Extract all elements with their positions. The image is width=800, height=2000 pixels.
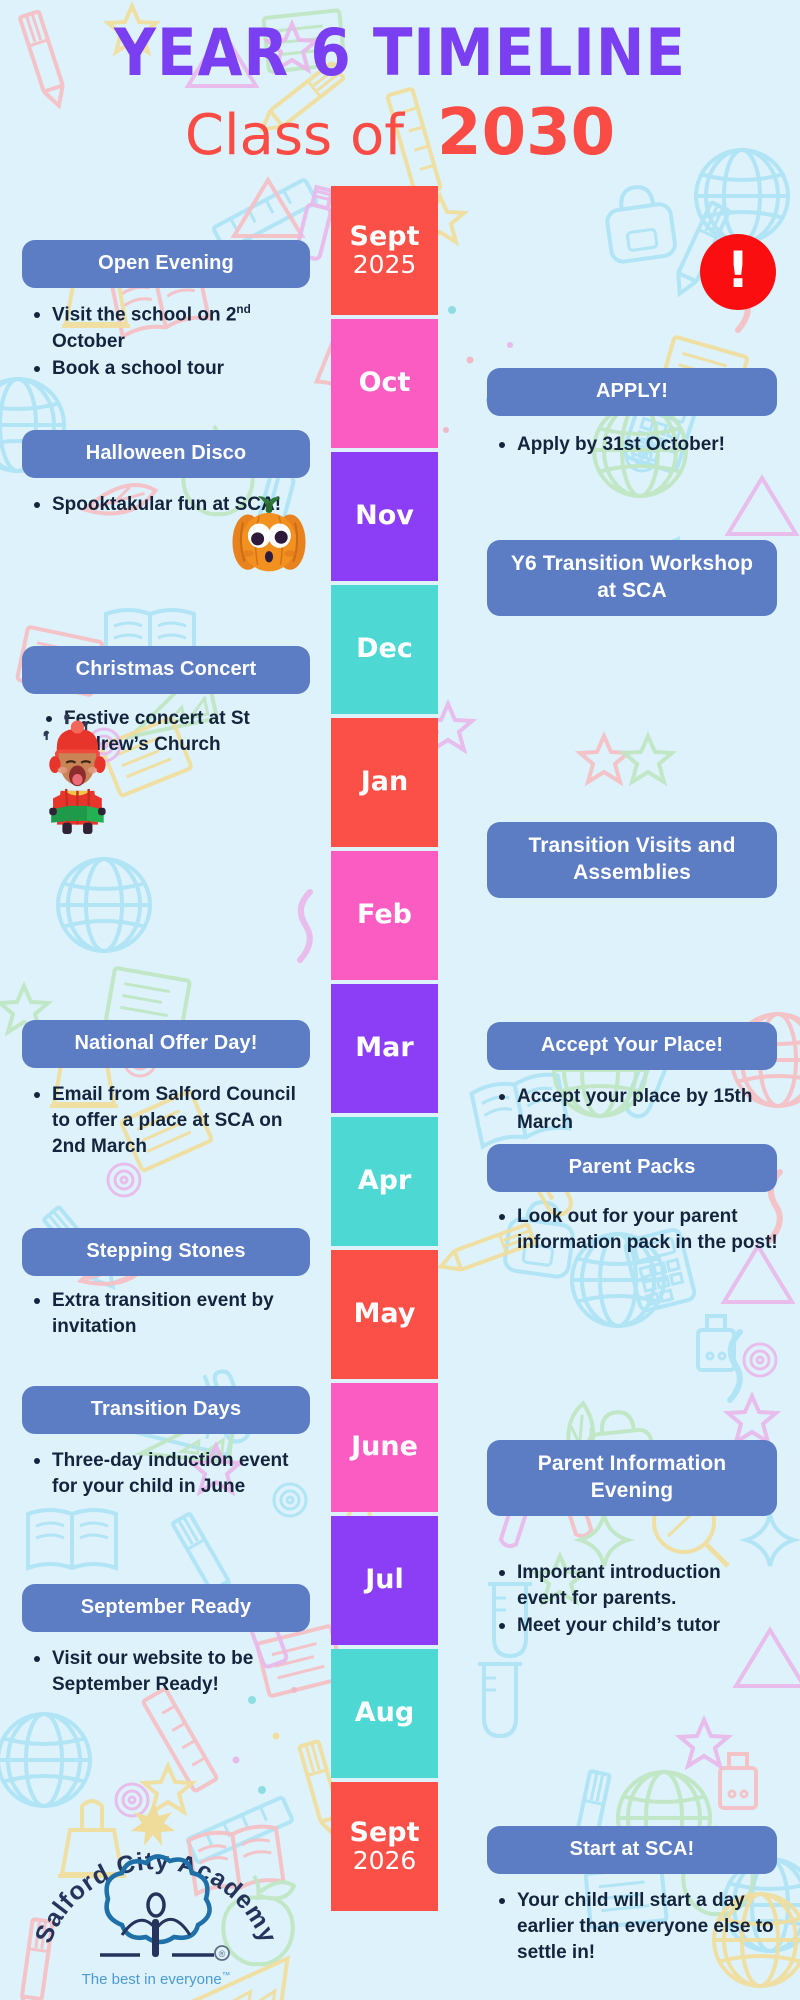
event-banner[interactable]: Parent Information Evening bbox=[487, 1440, 777, 1516]
month-year-label: 2025 bbox=[353, 251, 417, 279]
timeline-month-block: June bbox=[331, 1383, 438, 1512]
month-label: Aug bbox=[355, 1699, 414, 1727]
event-bullet-item: Extra transition event by invitation bbox=[30, 1288, 314, 1340]
timeline-month-block: Feb bbox=[331, 851, 438, 980]
timeline-month-block: Sept2025 bbox=[331, 186, 438, 315]
event-bullet-item: Email from Salford Council to offer a pl… bbox=[30, 1082, 314, 1161]
event-bullet-list: Visit the school on 2nd OctoberBook a sc… bbox=[30, 302, 314, 383]
event-banner-title: National Offer Day! bbox=[74, 1032, 257, 1054]
month-label: Jul bbox=[365, 1566, 404, 1594]
event-banner-title: Halloween Disco bbox=[86, 442, 246, 464]
event-bullet-item: Visit our website to be September Ready! bbox=[30, 1646, 314, 1698]
timeline-month-block: Aug bbox=[331, 1649, 438, 1778]
event-bullet-item: Apply by 31st October! bbox=[495, 432, 781, 458]
timeline-month-block: Sept2026 bbox=[331, 1782, 438, 1911]
timeline-month-block: Jan bbox=[331, 718, 438, 847]
month-label: May bbox=[354, 1300, 416, 1328]
event-banner-title: Christmas Concert bbox=[76, 658, 257, 680]
event-banner-title: Open Evening bbox=[98, 252, 234, 274]
event-banner[interactable]: Transition Visits and Assemblies bbox=[487, 822, 777, 898]
event-banner-title: APPLY! bbox=[596, 380, 668, 402]
month-label: June bbox=[351, 1433, 418, 1461]
event-bullet-list: Email from Salford Council to offer a pl… bbox=[30, 1082, 314, 1162]
event-bullet-list: Apply by 31st October! bbox=[495, 432, 781, 459]
event-banner[interactable]: Stepping Stones bbox=[22, 1228, 310, 1276]
month-label: Jan bbox=[361, 768, 409, 796]
alert-icon: ! bbox=[700, 234, 776, 310]
event-bullet-item: Visit the school on 2nd October bbox=[30, 302, 314, 355]
event-banner[interactable]: Accept Your Place! bbox=[487, 1022, 777, 1070]
timeline-month-block: Dec bbox=[331, 585, 438, 714]
page-title: YEAR 6 TIMELINE bbox=[0, 20, 800, 86]
page-subtitle-year: 2030 bbox=[437, 96, 615, 170]
month-label: Sept bbox=[350, 223, 420, 251]
event-bullet-item: Look out for your parent information pac… bbox=[495, 1204, 781, 1256]
event-bullet-list: Three-day induction event for your child… bbox=[30, 1448, 314, 1501]
timeline-month-block: Mar bbox=[331, 984, 438, 1113]
event-banner[interactable]: APPLY! bbox=[487, 368, 777, 416]
timeline-month-block: May bbox=[331, 1250, 438, 1379]
month-year-label: 2026 bbox=[353, 1847, 417, 1875]
event-bullet-item: Your child will start a day earlier than… bbox=[495, 1888, 781, 1967]
event-bullet-list: Important introduction event for parents… bbox=[495, 1560, 753, 1641]
event-banner[interactable]: Start at SCA! bbox=[487, 1826, 777, 1874]
timeline-month-block: Oct bbox=[331, 319, 438, 448]
month-label: Feb bbox=[357, 901, 412, 929]
timeline-month-block: Jul bbox=[331, 1516, 438, 1645]
event-bullet-list: Your child will start a day earlier than… bbox=[495, 1888, 781, 1968]
event-banner[interactable]: Y6 Transition Workshop at SCA bbox=[487, 540, 777, 616]
event-banner[interactable]: September Ready bbox=[22, 1584, 310, 1632]
event-bullet-item: Three-day induction event for your child… bbox=[30, 1448, 314, 1500]
logo-tagline: The best in everyone™ bbox=[36, 1970, 276, 1988]
page-subtitle-prefix: Class of bbox=[185, 103, 404, 168]
event-bullet-list: Visit our website to be September Ready! bbox=[30, 1646, 314, 1699]
event-banner-title: September Ready bbox=[81, 1596, 251, 1618]
month-label: Apr bbox=[358, 1167, 412, 1195]
event-banner[interactable]: Open Evening bbox=[22, 240, 310, 288]
event-bullet-item: Book a school tour bbox=[30, 356, 314, 382]
event-bullet-list: Accept your place by 15th March bbox=[495, 1084, 781, 1137]
event-banner[interactable]: Transition Days bbox=[22, 1386, 310, 1434]
event-bullet-item: Accept your place by 15th March bbox=[495, 1084, 781, 1136]
month-label: Oct bbox=[359, 369, 411, 397]
page-subtitle: Class of 2030 bbox=[0, 101, 800, 165]
event-bullet-list: Look out for your parent information pac… bbox=[495, 1204, 781, 1257]
infographic-poster: YEAR 6 TIMELINE Class of 2030 Sept2025Oc… bbox=[0, 0, 800, 2000]
event-banner[interactable]: National Offer Day! bbox=[22, 1020, 310, 1068]
event-bullet-item: Meet your child’s tutor bbox=[495, 1613, 753, 1639]
logo-graphic: Salford City Academy ® bbox=[36, 1795, 276, 1990]
pumpkin-icon bbox=[228, 495, 310, 573]
month-label: Mar bbox=[355, 1034, 413, 1062]
event-banner[interactable]: Halloween Disco bbox=[22, 430, 310, 478]
timeline-month-block: Nov bbox=[331, 452, 438, 581]
poster-header: YEAR 6 TIMELINE Class of 2030 bbox=[0, 0, 800, 165]
event-banner-title: Y6 Transition Workshop at SCA bbox=[511, 552, 753, 602]
event-bullet-item: Important introduction event for parents… bbox=[495, 1560, 753, 1612]
registered-mark: ® bbox=[219, 1949, 226, 1959]
event-banner-title: Parent Information Evening bbox=[538, 1452, 726, 1502]
event-banner-title: Stepping Stones bbox=[86, 1240, 245, 1262]
event-banner-title: Parent Packs bbox=[569, 1156, 696, 1178]
event-banner-title: Start at SCA! bbox=[570, 1838, 695, 1860]
month-label: Dec bbox=[356, 635, 413, 663]
logo-star bbox=[131, 1803, 175, 1846]
event-banner-title: Transition Visits and Assemblies bbox=[528, 834, 735, 884]
school-logo: Salford City Academy ® The best in every… bbox=[36, 1795, 276, 1990]
event-bullet-list: Extra transition event by invitation bbox=[30, 1288, 314, 1341]
event-banner[interactable]: Parent Packs bbox=[487, 1144, 777, 1192]
month-label: Nov bbox=[355, 502, 414, 530]
event-banner-title: Accept Your Place! bbox=[541, 1034, 723, 1056]
carol-singer-icon bbox=[32, 712, 136, 834]
timeline-month-block: Apr bbox=[331, 1117, 438, 1246]
event-banner[interactable]: Christmas Concert bbox=[22, 646, 310, 694]
event-banner-title: Transition Days bbox=[91, 1398, 241, 1420]
month-label: Sept bbox=[350, 1819, 420, 1847]
